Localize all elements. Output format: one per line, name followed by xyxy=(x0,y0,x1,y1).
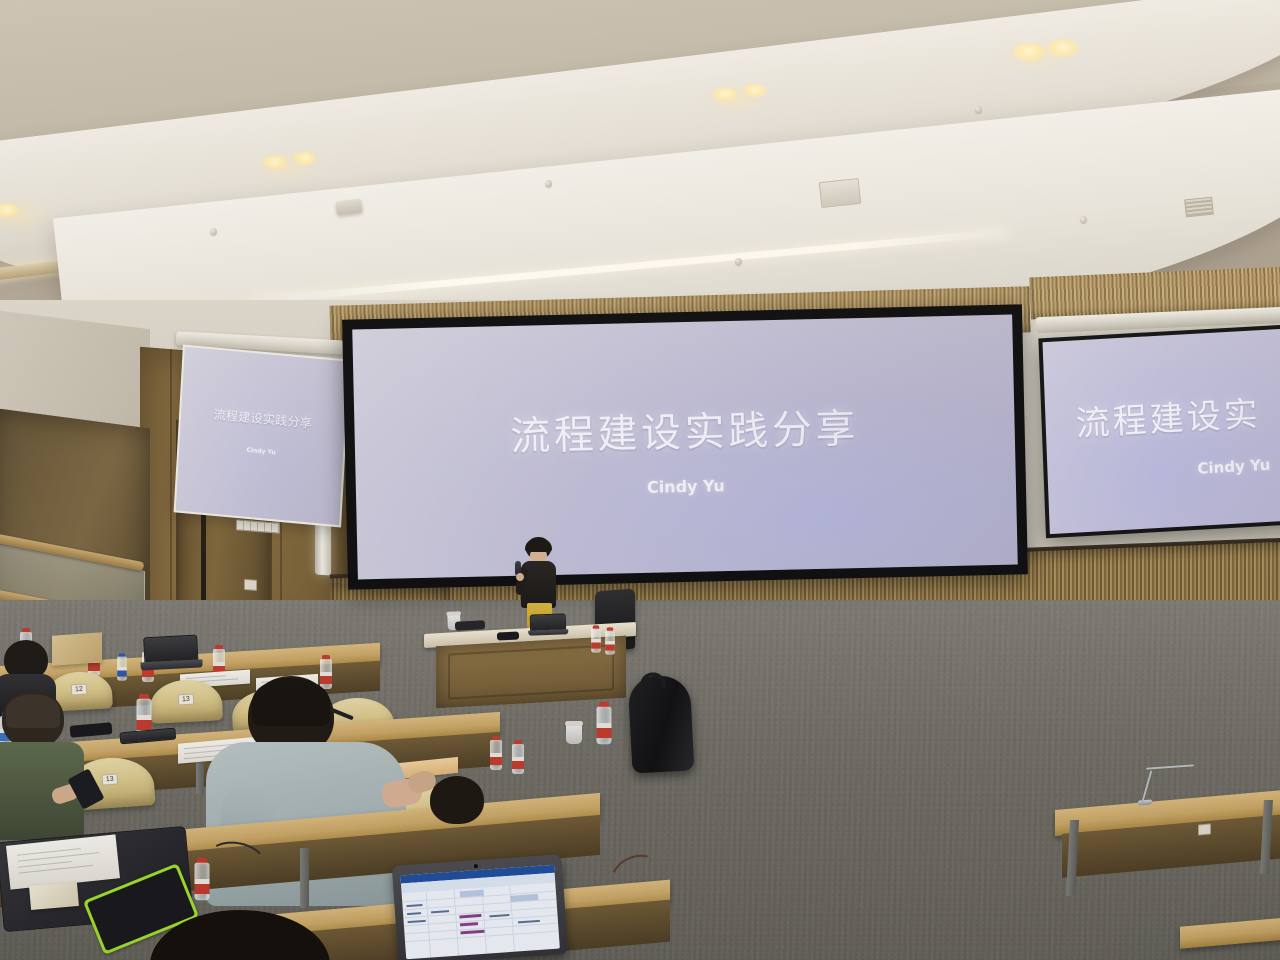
right-screen-title: 流程建设实 xyxy=(1075,386,1262,445)
ceiling-spotlight xyxy=(1046,40,1080,58)
podium-device[interactable] xyxy=(455,620,485,631)
left-screen-surface: 流程建设实践分享 Cindy Yu xyxy=(176,347,349,526)
water-bottle xyxy=(597,702,612,745)
seat-number: 13 xyxy=(178,694,194,706)
presenter-fringe xyxy=(525,539,552,552)
sprinkler-head xyxy=(545,180,552,187)
water-bottle xyxy=(490,736,502,770)
ceiling-spotlight xyxy=(262,156,288,170)
paper-cup xyxy=(566,724,582,744)
main-screen-surface: 流程建设实践分享 Cindy Yu xyxy=(352,315,1018,580)
audience-laptop-a[interactable] xyxy=(139,634,201,671)
right-auxiliary-screen[interactable]: 流程建设实 Cindy Yu xyxy=(1038,322,1280,539)
desk-power-outlet[interactable] xyxy=(1198,823,1211,835)
audience-person-far xyxy=(430,776,490,826)
sprinkler-head xyxy=(210,228,217,235)
water-bottle xyxy=(117,653,127,680)
slide-presenter-name: Cindy Yu xyxy=(356,470,1016,504)
laptop-screen xyxy=(400,865,559,960)
podium-phone[interactable] xyxy=(497,631,519,640)
right-screen-presenter: Cindy Yu xyxy=(1197,456,1271,478)
lecture-hall-photo: 流程建设实践分享 Cindy Yu 流程建设实践分享 Cindy Yu 流程建设… xyxy=(0,0,1280,960)
small-box xyxy=(29,882,79,910)
audience-person-front xyxy=(150,910,330,960)
ceiling-grille xyxy=(1184,197,1214,218)
ceiling-vent xyxy=(819,178,861,208)
podium-laptop[interactable] xyxy=(528,613,569,636)
sprinkler-head xyxy=(1080,216,1087,223)
left-screen-presenter: Cindy Yu xyxy=(179,441,343,463)
water-bottle xyxy=(605,627,615,654)
wall-socket[interactable] xyxy=(244,579,257,591)
ceiling-spotlight xyxy=(1012,44,1046,62)
desk-leg xyxy=(300,848,309,908)
left-screen-title: 流程建设实践分享 xyxy=(181,403,345,435)
sprinkler-head xyxy=(975,106,982,113)
main-screen[interactable]: 流程建设实践分享 Cindy Yu xyxy=(342,304,1028,589)
water-bottle xyxy=(591,625,601,652)
ceiling-spotlight xyxy=(712,88,738,102)
ceiling-spotlight xyxy=(292,152,318,166)
backpack[interactable] xyxy=(628,674,695,773)
front-laptop-spreadsheet[interactable] xyxy=(392,854,569,960)
right-screen-surface: 流程建设实 Cindy Yu xyxy=(1043,326,1280,534)
water-bottle xyxy=(512,740,524,774)
audience-person-green-shirt xyxy=(0,690,110,840)
ceiling-spotlight xyxy=(742,84,768,98)
sprinkler-head xyxy=(735,258,742,265)
presenter-hand xyxy=(516,573,524,581)
left-auxiliary-screen[interactable]: 流程建设实践分享 Cindy Yu xyxy=(174,345,351,528)
slide-title: 流程建设实践分享 xyxy=(354,393,1015,466)
